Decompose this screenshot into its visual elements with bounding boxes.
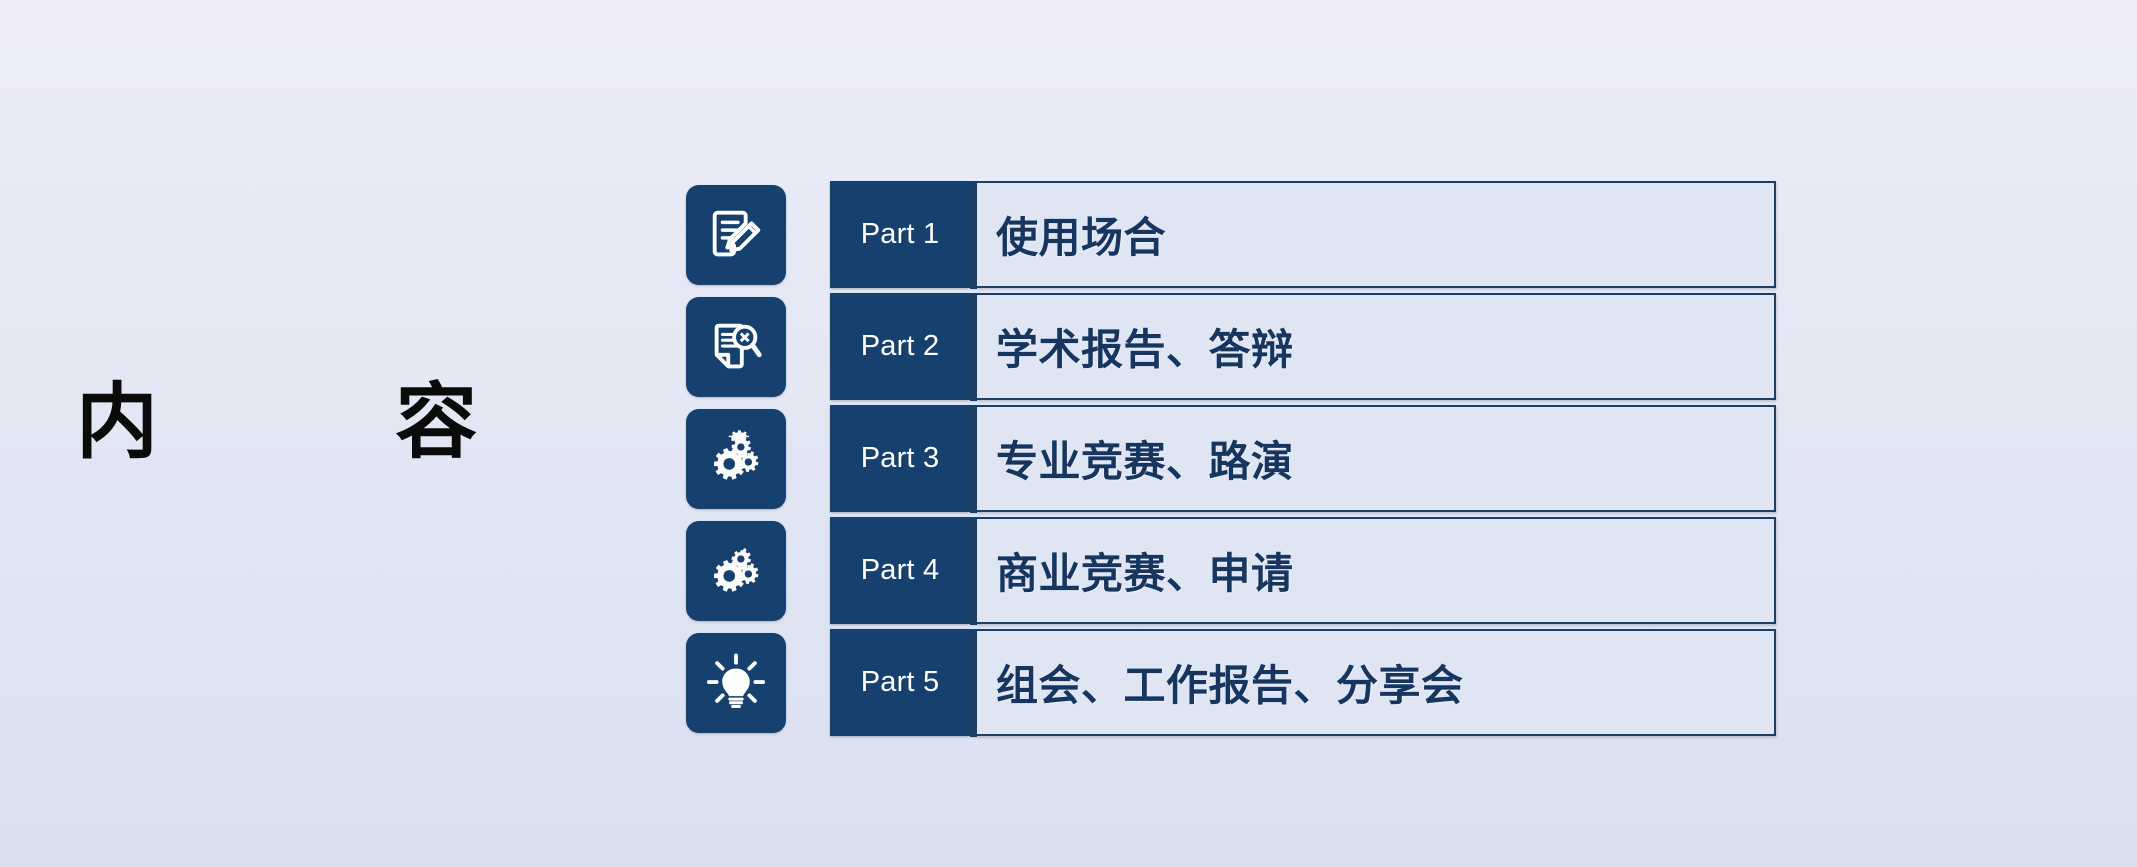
- row-panel[interactable]: 专业竞赛、路演: [970, 405, 1776, 512]
- document-edit-icon: [686, 185, 786, 285]
- spacer: [786, 629, 830, 736]
- gears-icon: [686, 409, 786, 509]
- part-badge: Part 3: [830, 405, 970, 512]
- row-panel[interactable]: 组会、工作报告、分享会: [970, 629, 1776, 736]
- spacer: [786, 181, 830, 288]
- row-panel[interactable]: 商业竞赛、申请: [970, 517, 1776, 624]
- list-item[interactable]: Part 4 商业竞赛、申请: [686, 517, 1776, 624]
- page-title: 内 容: [76, 382, 502, 464]
- row-bar[interactable]: Part 2 学术报告、答辩: [830, 293, 1776, 400]
- part-badge: Part 1: [830, 181, 970, 288]
- document-search-icon: [686, 297, 786, 397]
- spacer: [786, 405, 830, 512]
- row-bar[interactable]: Part 1 使用场合: [830, 181, 1776, 288]
- part-badge: Part 2: [830, 293, 970, 400]
- list-item[interactable]: Part 5 组会、工作报告、分享会: [686, 629, 1776, 736]
- slide-canvas: 内 容 Part 1 使用场合: [0, 0, 2137, 867]
- row-bar[interactable]: Part 5 组会、工作报告、分享会: [830, 629, 1776, 736]
- row-label: 使用场合: [996, 204, 1166, 265]
- content-list: Part 1 使用场合: [686, 181, 1776, 736]
- list-item[interactable]: Part 1 使用场合: [686, 181, 1776, 288]
- row-panel[interactable]: 使用场合: [970, 181, 1776, 288]
- list-item[interactable]: Part 2 学术报告、答辩: [686, 293, 1776, 400]
- row-bar[interactable]: Part 3 专业竞赛、路演: [830, 405, 1776, 512]
- row-label: 组会、工作报告、分享会: [996, 652, 1464, 713]
- lightbulb-icon: [686, 633, 786, 733]
- row-label: 商业竞赛、申请: [996, 540, 1294, 601]
- row-label: 学术报告、答辩: [996, 316, 1294, 377]
- row-panel[interactable]: 学术报告、答辩: [970, 293, 1776, 400]
- row-label: 专业竞赛、路演: [996, 428, 1294, 489]
- spacer: [786, 517, 830, 624]
- gears-icon: [686, 521, 786, 621]
- list-item[interactable]: Part 3 专业竞赛、路演: [686, 405, 1776, 512]
- part-badge: Part 4: [830, 517, 970, 624]
- part-badge: Part 5: [830, 629, 970, 736]
- spacer: [786, 293, 830, 400]
- row-bar[interactable]: Part 4 商业竞赛、申请: [830, 517, 1776, 624]
